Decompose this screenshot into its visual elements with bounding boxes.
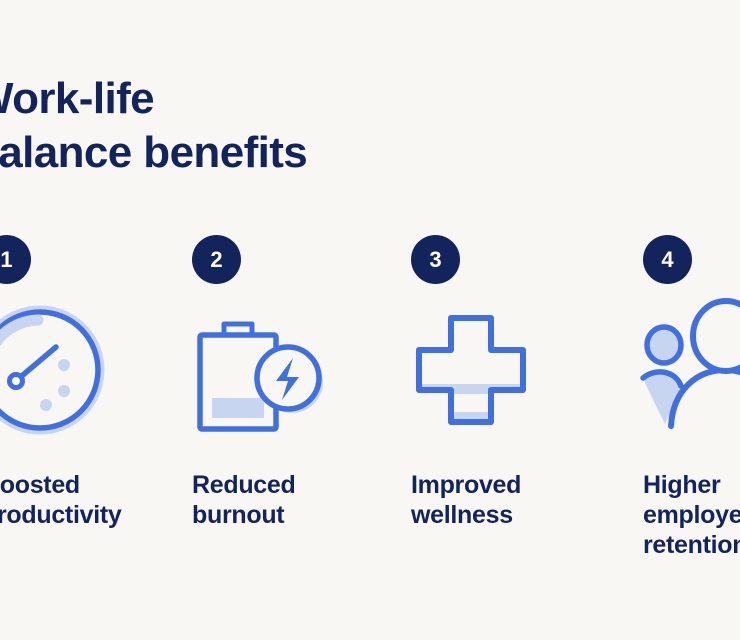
benefit-item-2: 2 Reduced burnout <box>192 0 402 640</box>
benefit-label-4: Higher employee retention <box>643 470 740 560</box>
benefit-number-badge-3: 3 <box>411 235 460 284</box>
benefit-number-badge-2: 2 <box>192 235 241 284</box>
people-group-icon <box>635 304 740 440</box>
benefit-label-2: Reduced burnout <box>192 470 392 530</box>
infographic-canvas: Work-life balance benefits 1 Boos <box>0 0 740 640</box>
medical-cross-icon <box>405 304 541 440</box>
benefit-label-3: Improved wellness <box>411 470 611 530</box>
benefit-number-badge-4: 4 <box>643 235 692 284</box>
benefit-item-4: 4 Higher employee retention <box>643 0 740 640</box>
benefit-label-1: Boosted productivity <box>0 470 182 530</box>
benefit-item-3: 3 Improved wellness <box>411 0 621 640</box>
benefit-number-badge-1: 1 <box>0 235 31 284</box>
battery-charging-icon <box>194 304 330 440</box>
benefit-item-1: 1 Boosted productivity <box>0 0 192 640</box>
speedometer-icon <box>0 302 108 438</box>
